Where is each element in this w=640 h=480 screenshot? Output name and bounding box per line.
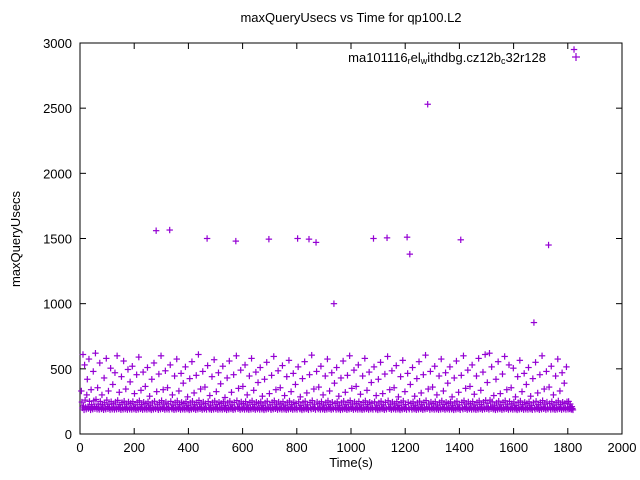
x-tick-label: 2000: [608, 440, 637, 455]
x-tick-label: 1800: [553, 440, 582, 455]
y-tick-label: 2500: [43, 101, 72, 116]
x-tick-label: 1200: [391, 440, 420, 455]
x-tick-label: 200: [123, 440, 145, 455]
x-tick-label: 1400: [445, 440, 474, 455]
legend-text-part: 32r128: [506, 50, 546, 65]
y-tick-label: 2000: [43, 166, 72, 181]
y-tick-label: 3000: [43, 36, 72, 51]
legend-text-part: ma101116: [348, 50, 408, 65]
x-tick-label: 1600: [499, 440, 528, 455]
chart-canvas: maxQueryUsecs vs Time for qp100.L2 05001…: [0, 0, 640, 480]
legend: ma101116relwithdbg.cz12bc32r128: [348, 50, 580, 66]
y-tick-label: 500: [50, 362, 72, 377]
x-tick-label: 400: [178, 440, 200, 455]
scatter-plot-figure: maxQueryUsecs vs Time for qp100.L2 05001…: [0, 0, 640, 480]
y-tick-label: 1500: [43, 232, 72, 247]
y-tick-label: 0: [65, 427, 72, 442]
y-tick-label: 1000: [43, 297, 72, 312]
legend-text-part: ithdbg.cz12b: [427, 50, 501, 65]
legend-entry-label: ma101116relwithdbg.cz12bc32r128: [348, 50, 546, 66]
chart-title: maxQueryUsecs vs Time for qp100.L2: [240, 10, 461, 25]
x-tick-label: 600: [232, 440, 254, 455]
y-axis-label: maxQueryUsecs: [8, 190, 23, 287]
x-axis-label: Time(s): [329, 455, 373, 470]
legend-text-part: el: [411, 50, 421, 65]
x-tick-label: 1000: [337, 440, 366, 455]
x-tick-label: 0: [76, 440, 83, 455]
x-tick-label: 800: [286, 440, 308, 455]
